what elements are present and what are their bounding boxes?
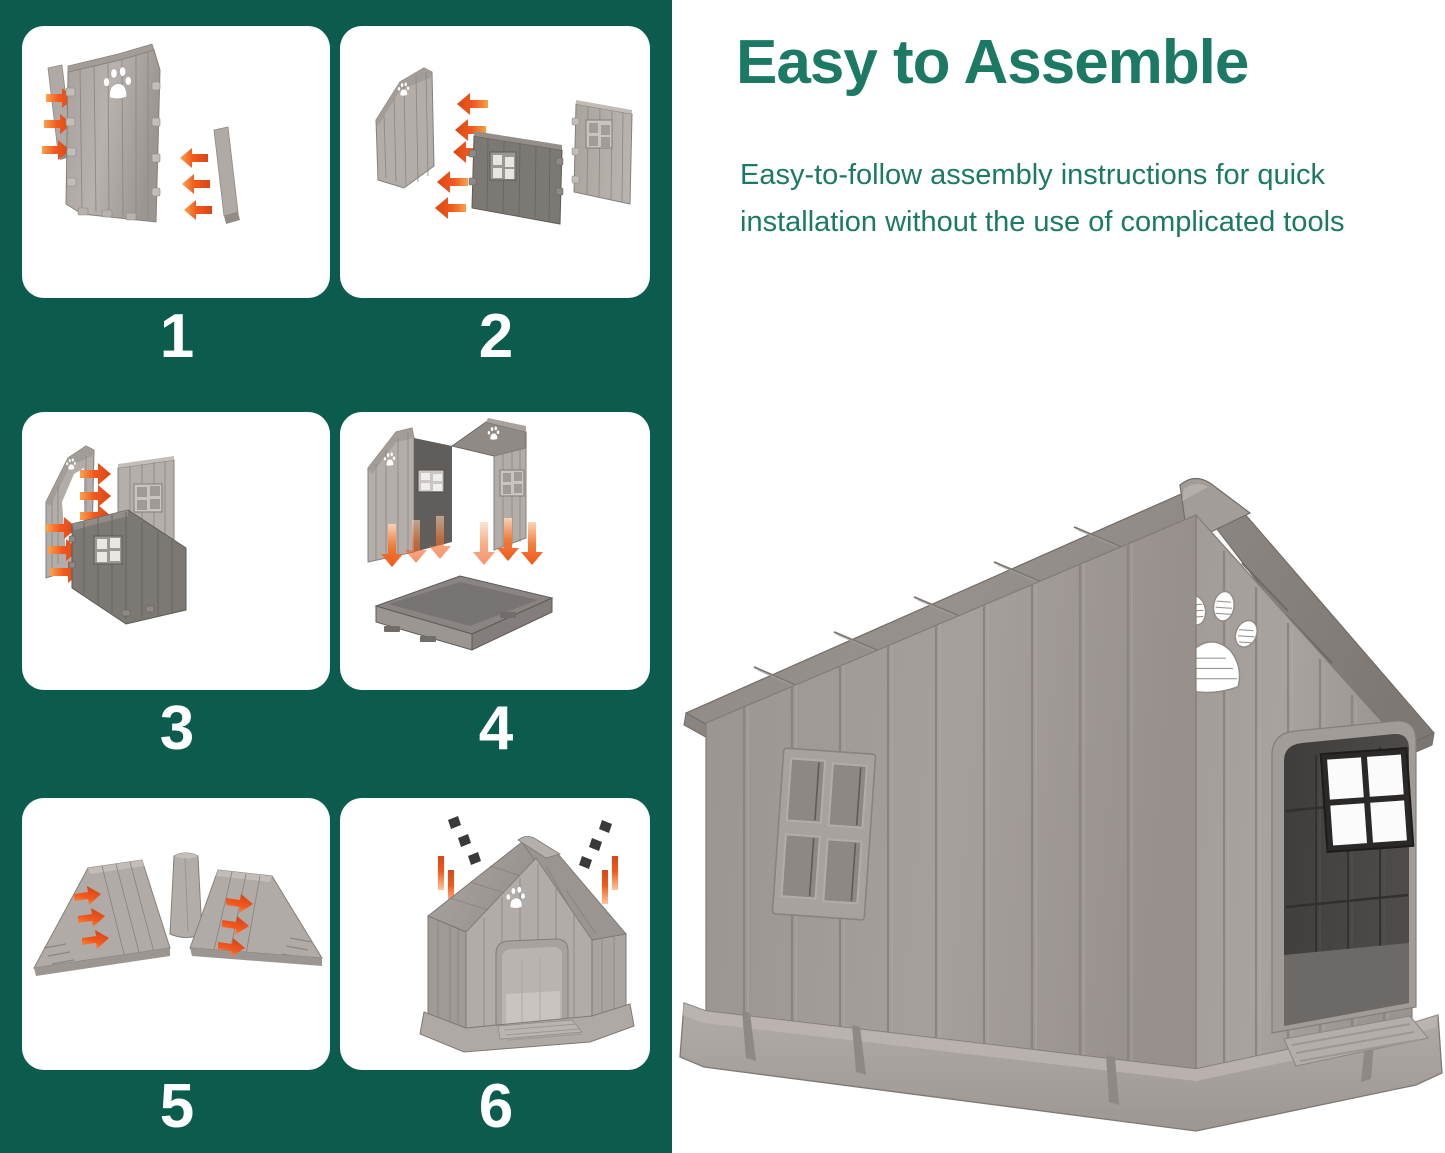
step-1-card <box>22 26 330 298</box>
window-icon-dark <box>490 152 516 180</box>
page-subtitle: Easy-to-follow assembly instructions for… <box>740 152 1410 246</box>
step-2-card <box>340 26 650 298</box>
assembled-dog-house <box>420 836 634 1052</box>
step-3-illustration <box>22 412 330 690</box>
door-opening <box>1272 721 1416 1033</box>
step-3-number: 3 <box>22 698 330 760</box>
window-icon <box>586 120 612 148</box>
floor-tray <box>376 576 552 650</box>
window-icon <box>134 484 162 512</box>
step-4-card <box>340 412 650 690</box>
step-5-number: 5 <box>22 1076 330 1138</box>
arrow-streaks-right <box>602 856 618 904</box>
roof-panel-right <box>190 870 322 966</box>
window-icon-dark <box>94 536 122 564</box>
side-window <box>772 748 875 920</box>
fastener-icons-right <box>579 820 612 869</box>
back-window <box>1321 748 1414 852</box>
assembly-steps-panel: 1 <box>0 0 672 1153</box>
page-title: Easy to Assemble <box>736 30 1396 97</box>
step-1-illustration <box>22 26 330 298</box>
arrow-group-lower <box>435 171 468 219</box>
fastener-icons-left <box>448 816 481 865</box>
ridge-cap <box>170 853 202 938</box>
back-wall-panel <box>572 100 632 204</box>
product-photo-dog-house <box>676 455 1445 1153</box>
step-4-illustration <box>340 412 650 690</box>
step-4-number: 4 <box>340 698 650 760</box>
step-3-card <box>22 412 330 690</box>
step-6-number: 6 <box>340 1076 650 1138</box>
arrow-group-right <box>180 148 212 220</box>
step-2-number: 2 <box>340 306 650 368</box>
step-2-illustration <box>340 26 650 298</box>
side-trim-right <box>214 127 240 224</box>
gable-panel-standing <box>376 68 434 188</box>
step-6-illustration <box>340 798 650 1070</box>
step-5-illustration <box>22 798 330 1070</box>
front-gable-panel <box>66 44 164 228</box>
lower-wall-panel <box>469 131 563 224</box>
step-1-number: 1 <box>22 306 330 368</box>
step-6-card <box>340 798 650 1070</box>
step-5-card <box>22 798 330 1070</box>
